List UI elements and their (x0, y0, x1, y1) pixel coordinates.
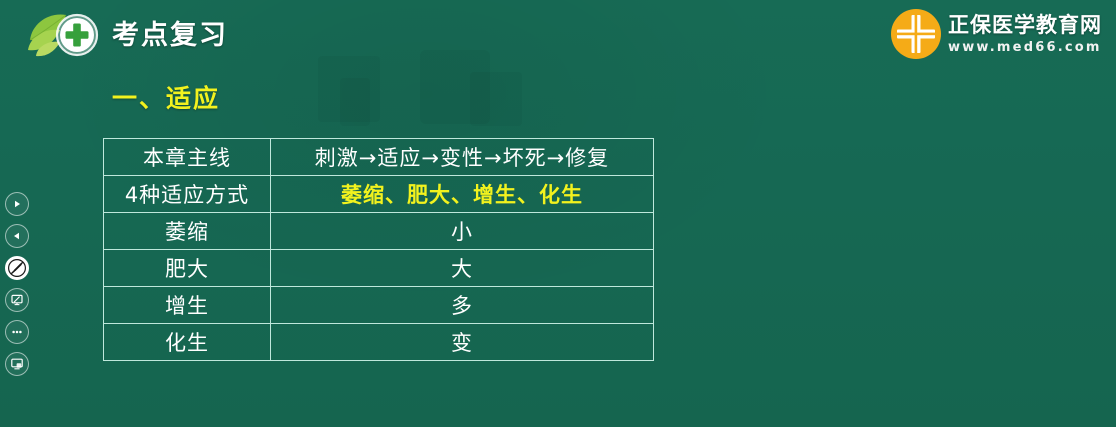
row-label: 本章主线 (104, 139, 271, 176)
leaf-medical-cross-icon (22, 6, 108, 64)
play-back-icon[interactable] (5, 224, 29, 248)
site-url: www.med66.com (948, 41, 1102, 54)
row-value: 刺激→适应→变性→坏死→修复 (271, 139, 654, 176)
site-name: 正保医学教育网 (948, 15, 1102, 36)
screen-share-icon[interactable] (5, 352, 29, 376)
adaptation-table: 本章主线 刺激→适应→变性→坏死→修复 4种适应方式 萎缩、肥大、增生、化生 萎… (103, 138, 654, 361)
table-row: 萎缩 小 (104, 213, 654, 250)
row-label: 化生 (104, 324, 271, 361)
zhengbao-cross-circle-icon (890, 8, 942, 60)
site-brand[interactable]: 正保医学教育网 www.med66.com (890, 5, 1102, 63)
row-value: 萎缩、肥大、增生、化生 (271, 176, 654, 213)
row-value: 变 (271, 324, 654, 361)
table-row: 本章主线 刺激→适应→变性→坏死→修复 (104, 139, 654, 176)
course-brand: 考点复习 (22, 4, 292, 66)
row-label: 萎缩 (104, 213, 271, 250)
row-label: 4种适应方式 (104, 176, 271, 213)
page-title: 考点复习 (112, 22, 228, 49)
slide-header: 考点复习 正保医学教育网 www.med66.com (0, 0, 1116, 72)
floating-toolbar (2, 192, 32, 376)
slide-screen: 考点复习 正保医学教育网 www.med66.com (0, 0, 1116, 427)
more-dots-icon[interactable] (5, 320, 29, 344)
section-title: 一、适应 (112, 84, 220, 114)
table-row: 4种适应方式 萎缩、肥大、增生、化生 (104, 176, 654, 213)
row-value: 多 (271, 287, 654, 324)
row-label: 增生 (104, 287, 271, 324)
background-watermark-2 (340, 78, 370, 126)
play-forward-icon[interactable] (5, 192, 29, 216)
table-row: 肥大 大 (104, 250, 654, 287)
background-watermark-4 (470, 72, 522, 126)
site-brand-text: 正保医学教育网 www.med66.com (948, 15, 1102, 54)
table-row: 增生 多 (104, 287, 654, 324)
row-label: 肥大 (104, 250, 271, 287)
row-value: 小 (271, 213, 654, 250)
table-row: 化生 变 (104, 324, 654, 361)
pen-annotate-icon[interactable] (5, 256, 29, 280)
screen-pen-icon[interactable] (5, 288, 29, 312)
row-value: 大 (271, 250, 654, 287)
